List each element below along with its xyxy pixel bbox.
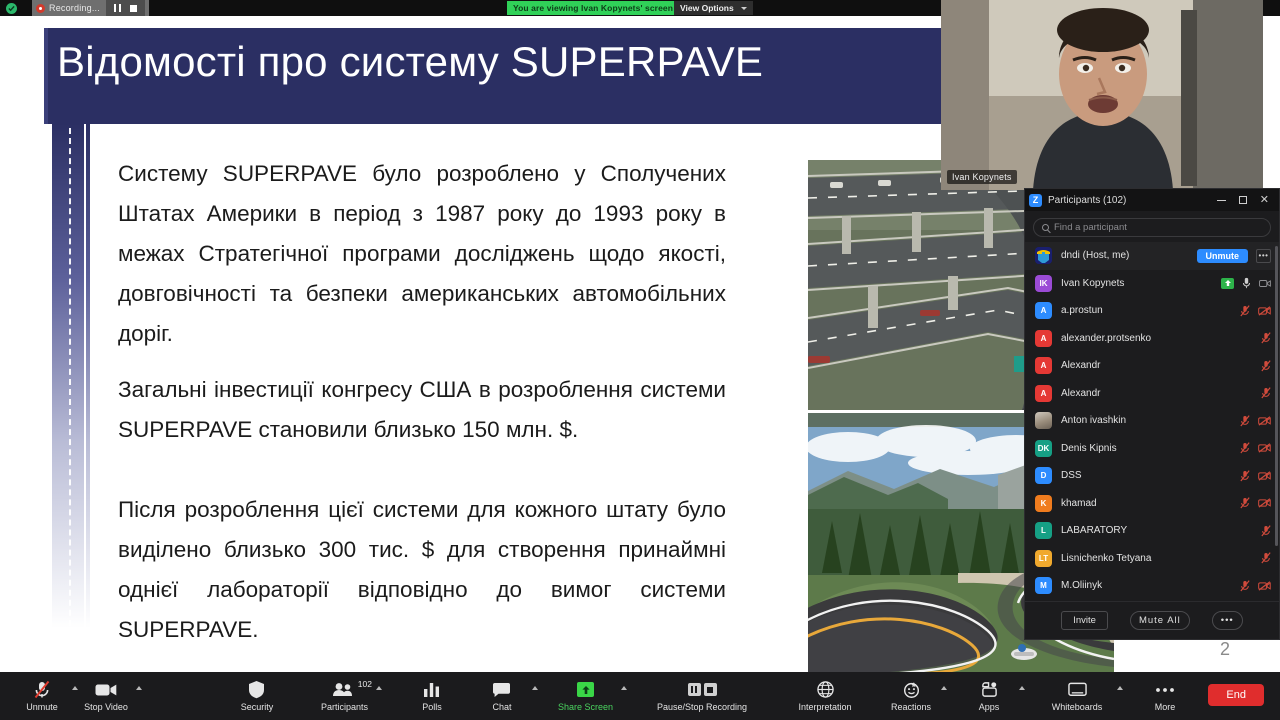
avatar: D <box>1035 467 1052 484</box>
viewing-screen-banner: You are viewing Ivan Kopynets' screen <box>507 1 679 15</box>
apps-button[interactable]: Apps <box>961 680 1017 712</box>
participants-label: Participants <box>321 702 368 712</box>
participants-chevron-icon[interactable] <box>376 686 382 690</box>
slide-paragraph-2: Загальні інвестиції конгресу США в розро… <box>118 370 726 450</box>
list-item[interactable]: M M.Oliinyk <box>1025 572 1279 600</box>
participant-name: khamad <box>1061 498 1231 509</box>
video-camera-icon <box>95 680 117 699</box>
avatar: A <box>1035 385 1052 402</box>
list-item[interactable]: K khamad <box>1025 490 1279 518</box>
chat-chevron-icon[interactable] <box>532 686 538 690</box>
security-button[interactable]: Security <box>229 680 285 712</box>
whiteboards-chevron-icon[interactable] <box>1117 686 1123 690</box>
video-muted-icon <box>1258 498 1271 508</box>
participants-count: 102 <box>358 679 372 689</box>
unmute-button[interactable]: Unmute <box>1197 249 1249 263</box>
participant-name-label: Ivan Kopynets <box>947 170 1017 184</box>
list-item[interactable]: LT Lisnichenko Tetyana <box>1025 545 1279 573</box>
slide-page-number: 2 <box>1220 639 1230 660</box>
list-item[interactable]: Anton ivashkin <box>1025 407 1279 435</box>
apps-icon <box>981 680 998 699</box>
participants-icon <box>332 680 356 699</box>
video-muted-icon <box>1258 306 1271 316</box>
recording-label: Recording... <box>49 3 100 13</box>
record-dot-icon <box>36 4 45 13</box>
slide-paragraph-1: Систему SUPERPAVE було розроблено у Спол… <box>118 154 726 354</box>
whiteboard-icon <box>1068 680 1087 699</box>
video-muted-icon <box>1258 581 1271 591</box>
mic-muted-icon <box>1240 415 1250 427</box>
avatar <box>1035 247 1052 264</box>
polls-bars-icon <box>423 680 440 699</box>
mic-muted-icon <box>1261 387 1271 399</box>
participant-name: Alexandr <box>1061 360 1252 371</box>
participant-name: Lisnichenko Tetyana <box>1061 553 1252 564</box>
microphone-icon[interactable] <box>1242 277 1251 289</box>
stop-video-label: Stop Video <box>84 702 128 712</box>
video-muted-icon <box>1258 471 1271 481</box>
list-item[interactable]: DK Denis Kipnis <box>1025 435 1279 463</box>
participant-name: LABARATORY <box>1061 525 1252 536</box>
list-item[interactable]: A Alexandr <box>1025 352 1279 380</box>
screen-sharing-icon <box>1221 278 1234 289</box>
smiley-icon <box>903 680 920 699</box>
mute-all-button[interactable]: Mute All <box>1130 611 1190 630</box>
pause-stop-recording-label: Pause/Stop Recording <box>657 702 747 712</box>
video-muted-icon <box>1258 443 1271 453</box>
avatar: DK <box>1035 440 1052 457</box>
chat-label: Chat <box>492 702 511 712</box>
participant-name: a.prostun <box>1061 305 1231 316</box>
apps-chevron-icon[interactable] <box>1019 686 1025 690</box>
list-item[interactable]: A a.prostun <box>1025 297 1279 325</box>
chat-button[interactable]: Chat <box>474 680 530 712</box>
avatar: A <box>1035 302 1052 319</box>
participant-name: Denis Kipnis <box>1061 443 1231 454</box>
view-options-button[interactable]: View Options <box>674 1 753 15</box>
maximize-icon[interactable] <box>1239 196 1247 204</box>
invite-button[interactable]: Invite <box>1061 611 1108 630</box>
pause-stop-recording-icon <box>688 680 717 699</box>
stop-video-button[interactable]: Stop Video <box>78 680 134 712</box>
decoration-inner-line <box>84 124 86 672</box>
chat-bubble-icon <box>492 680 511 699</box>
more-label: More <box>1155 702 1176 712</box>
participant-name: Anton ivashkin <box>1061 415 1231 426</box>
reactions-button[interactable]: Reactions <box>883 680 939 712</box>
search-input[interactable] <box>1054 222 1262 233</box>
recording-active-icon <box>6 3 17 14</box>
share-screen-button[interactable]: Share Screen <box>552 680 619 712</box>
mic-muted-icon <box>1261 525 1271 537</box>
zoom-logo-icon: Z <box>1029 194 1042 207</box>
more-options-icon[interactable]: ••• <box>1256 249 1271 263</box>
chevron-down-icon <box>741 7 747 10</box>
whiteboards-button[interactable]: Whiteboards <box>1039 680 1115 712</box>
polls-label: Polls <box>422 702 442 712</box>
recording-indicator: Recording... <box>32 0 149 16</box>
participant-name: alexander.protsenko <box>1061 333 1252 344</box>
end-meeting-button[interactable]: End <box>1208 684 1264 706</box>
participant-search-box[interactable] <box>1033 218 1271 237</box>
share-screen-icon <box>577 680 594 699</box>
slide-text-block: Систему SUPERPAVE було розроблено у Спол… <box>118 154 726 650</box>
participants-window-title: Participants (102) <box>1048 195 1211 206</box>
video-muted-icon <box>1258 416 1271 426</box>
participants-titlebar: Z Participants (102) ✕ <box>1025 189 1279 211</box>
share-screen-label: Share Screen <box>558 702 613 712</box>
list-item[interactable]: IK Ivan Kopynets <box>1025 270 1279 298</box>
mic-muted-icon <box>1261 360 1271 372</box>
avatar <box>1035 412 1052 429</box>
pause-icon[interactable] <box>114 4 121 12</box>
mic-muted-icon <box>1240 442 1250 454</box>
page-title: Відомості про систему SUPERPAVE <box>57 38 763 86</box>
list-item[interactable]: dndi (Host, me) Unmute ••• <box>1025 242 1279 270</box>
meeting-toolbar: Unmute Stop Video <box>0 672 1280 720</box>
avatar: L <box>1035 522 1052 539</box>
mic-muted-icon <box>1240 305 1250 317</box>
apps-label: Apps <box>979 702 1000 712</box>
interpretation-button[interactable]: Interpretation <box>779 680 871 712</box>
avatar: M <box>1035 577 1052 594</box>
participant-name: Alexandr <box>1061 388 1252 399</box>
unmute-label: Unmute <box>26 702 58 712</box>
avatar: K <box>1035 495 1052 512</box>
globe-icon <box>817 680 834 699</box>
mic-muted-icon <box>1240 470 1250 482</box>
more-options-button[interactable]: ••• <box>1212 611 1243 630</box>
more-dots-icon <box>1155 680 1175 699</box>
list-item[interactable]: D DSS <box>1025 462 1279 490</box>
mic-muted-icon <box>1261 332 1271 344</box>
unmute-button[interactable]: Unmute <box>14 680 70 712</box>
slide-paragraph-3: Після розроблення цієї системи для кожно… <box>118 490 726 650</box>
reactions-label: Reactions <box>891 702 931 712</box>
participant-name: Ivan Kopynets <box>1061 278 1212 289</box>
mic-muted-icon <box>33 680 51 699</box>
mic-muted-icon <box>1240 580 1250 592</box>
participants-button[interactable]: 102 Participants <box>315 680 374 712</box>
scrollbar[interactable] <box>1275 246 1278 546</box>
zoom-meeting-window: Recording... You are viewing Ivan Kopyne… <box>0 0 1280 720</box>
dashed-line-decoration <box>69 128 71 666</box>
participants-footer: Invite Mute All ••• <box>1025 601 1279 639</box>
avatar: LT <box>1035 550 1052 567</box>
search-icon <box>1042 224 1049 231</box>
list-item[interactable]: L LABARATORY <box>1025 517 1279 545</box>
interpretation-label: Interpretation <box>799 702 852 712</box>
share-screen-chevron-icon[interactable] <box>621 686 627 690</box>
avatar: A <box>1035 357 1052 374</box>
participants-list[interactable]: dndi (Host, me) Unmute ••• IK Ivan Kopyn… <box>1025 242 1279 601</box>
list-item[interactable]: A alexander.protsenko <box>1025 325 1279 353</box>
view-options-label: View Options <box>680 3 734 13</box>
avatar: IK <box>1035 275 1052 292</box>
list-item[interactable]: A Alexandr <box>1025 380 1279 408</box>
whiteboards-label: Whiteboards <box>1052 702 1103 712</box>
reactions-chevron-icon[interactable] <box>941 686 947 690</box>
participant-name: DSS <box>1061 470 1231 481</box>
pause-stop-recording-button[interactable]: Pause/Stop Recording <box>637 680 767 712</box>
mic-muted-icon <box>1261 552 1271 564</box>
title-accent-bar <box>44 28 48 124</box>
slide-left-decoration <box>52 124 90 672</box>
mic-muted-icon <box>1240 497 1250 509</box>
shield-icon <box>248 680 265 699</box>
polls-button[interactable]: Polls <box>404 680 460 712</box>
close-icon[interactable]: ✕ <box>1260 195 1269 206</box>
active-speaker-video[interactable]: Ivan Kopynets <box>941 0 1263 190</box>
participant-name: dndi (Host, me) <box>1061 250 1188 261</box>
participant-name: M.Oliinyk <box>1061 580 1231 591</box>
participants-panel: Z Participants (102) ✕ <box>1024 188 1280 640</box>
security-label: Security <box>241 702 274 712</box>
avatar: A <box>1035 330 1052 347</box>
minimize-icon[interactable] <box>1217 200 1226 201</box>
more-button[interactable]: More <box>1137 680 1193 712</box>
video-camera-icon[interactable] <box>1259 279 1271 288</box>
stop-icon[interactable] <box>130 5 137 12</box>
